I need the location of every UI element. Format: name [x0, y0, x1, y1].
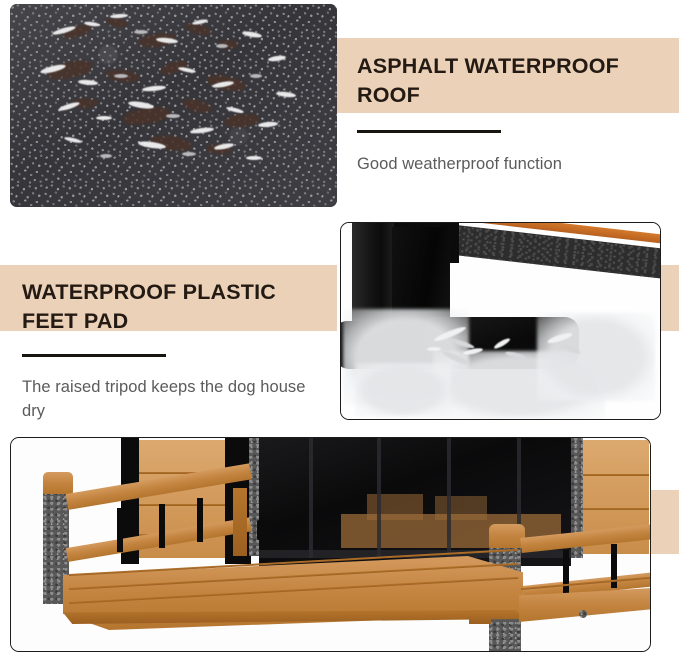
post-cap-left: [43, 472, 73, 494]
water-puddle: [537, 313, 655, 401]
log-siding-seam: [579, 508, 649, 510]
water-droplet: [166, 114, 180, 118]
feature-2-title-band-overflow: [661, 265, 679, 331]
water-droplet: [246, 156, 262, 160]
railing-baluster: [159, 504, 165, 548]
feature-1-description: Good weatherproof function: [357, 153, 667, 176]
deck-joint-block: [469, 610, 491, 624]
log-siding-seam: [139, 504, 225, 506]
interior-wall-strip: [435, 496, 487, 520]
feature-2-title: WATERPROOF PLASTIC FEET PAD: [22, 278, 332, 335]
water-droplet: [100, 154, 112, 158]
water-droplet: [134, 30, 148, 34]
feature-2-photo-plastic-feet-pad: Black square plastic foot pad under a do…: [340, 222, 661, 420]
door-glass-divider: [377, 438, 381, 558]
water-droplet: [216, 44, 228, 48]
water-splash: [427, 347, 441, 351]
feature-1-text-block: ASPHALT WATERPROOF ROOF Good weatherproo…: [357, 52, 667, 177]
infographic-canvas: Close-up of dark granular asphalt roofin…: [0, 0, 679, 652]
feature-1-photo-asphalt-roof: Close-up of dark granular asphalt roofin…: [10, 4, 337, 207]
railing-baluster: [563, 550, 569, 594]
feature-2-text-block: WATERPROOF PLASTIC FEET PAD The raised t…: [22, 278, 332, 423]
screw-head: [579, 610, 587, 618]
post-cap-right: [489, 524, 525, 548]
feature-2-divider-rule: [22, 354, 166, 357]
feature-3-photo-large-space-porch: Wooden dog house porch with honey-staine…: [10, 437, 651, 652]
feature-1-title: ASPHALT WATERPROOF ROOF: [357, 52, 667, 109]
railing-end-stile-left: [233, 488, 247, 556]
door-glass-divider: [447, 438, 451, 556]
door-glass-divider: [309, 438, 313, 558]
feature-2-description: The raised tripod keeps the dog house dr…: [22, 376, 332, 423]
interior-wall-strip: [367, 494, 423, 520]
railing-baluster: [197, 498, 203, 542]
water-droplet: [182, 152, 196, 156]
water-droplet: [96, 116, 112, 120]
feature-1-divider-rule: [357, 130, 501, 133]
railing-baluster: [117, 508, 123, 552]
water-droplet: [114, 74, 128, 78]
log-siding-seam: [579, 474, 649, 476]
water-droplet: [250, 74, 262, 78]
door-latch-hardware: [257, 520, 271, 540]
water-puddle: [355, 363, 451, 417]
